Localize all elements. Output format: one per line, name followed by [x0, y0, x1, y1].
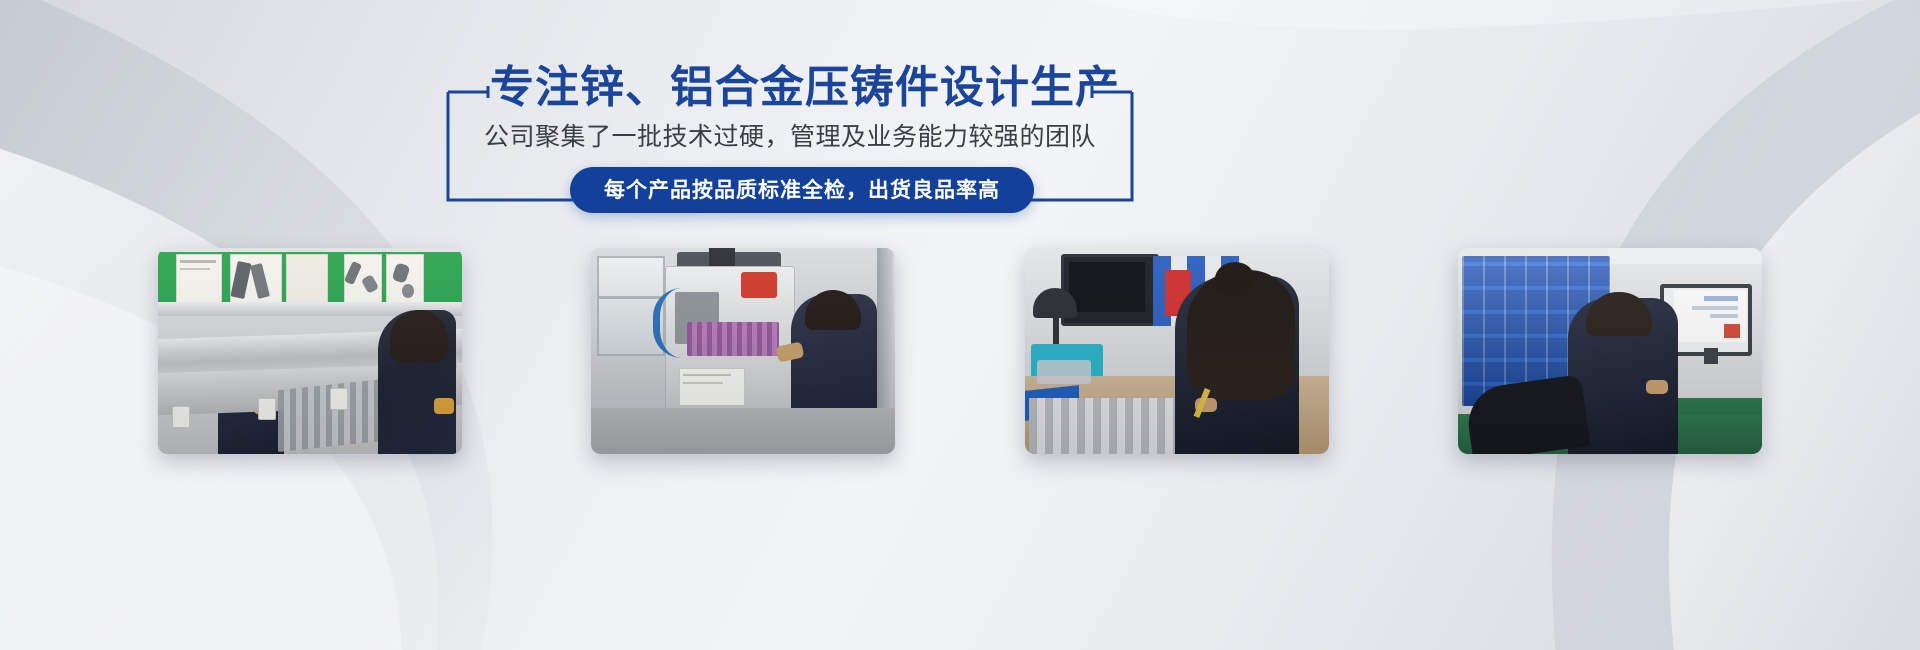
photo-3-scene — [1025, 248, 1329, 454]
photo-quality-inspection-shelf[interactable] — [158, 248, 462, 454]
photo-office-workstation-bins[interactable] — [1458, 248, 1762, 454]
page-title: 专注锌、铝合金压铸件设计生产 — [490, 61, 1090, 115]
photo-4-scene — [1458, 248, 1762, 454]
photo-1-scene — [158, 248, 462, 454]
photo-die-casting-machine[interactable] — [591, 248, 895, 454]
banner-stage: 专注锌、铝合金压铸件设计生产 公司聚集了一批技术过硬，管理及业务能力较强的团队 … — [0, 0, 1920, 650]
photo-parts-sorting-desk[interactable] — [1025, 248, 1329, 454]
photo-2-scene — [591, 248, 895, 454]
banner-text-block: 专注锌、铝合金压铸件设计生产 公司聚集了一批技术过硬，管理及业务能力较强的团队 … — [430, 60, 1150, 215]
quality-badge: 每个产品按品质标准全检，出货良品率高 — [570, 167, 1034, 213]
page-subtitle: 公司聚集了一批技术过硬，管理及业务能力较强的团队 — [450, 120, 1130, 154]
photo-gallery — [158, 248, 1762, 454]
